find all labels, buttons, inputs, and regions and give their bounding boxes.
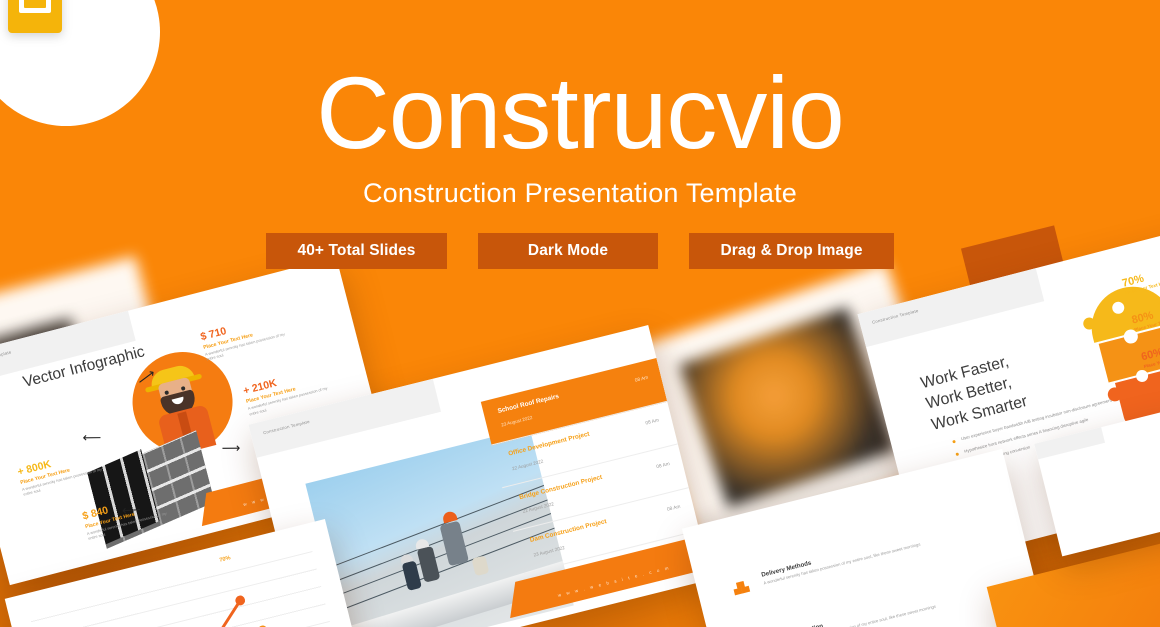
page-subtitle: Construction Presentation Template — [0, 178, 1160, 209]
list-item-description: A wonderful serenity has taken possessio… — [763, 528, 976, 587]
poster-canvas: Construction Template Vector Infographic… — [0, 0, 1160, 627]
schedule-row-date: 23 August 2022 — [533, 545, 565, 558]
arrow-left-icon: ⟵ — [83, 430, 102, 446]
schedule-row-time: 08 Am — [645, 419, 659, 427]
google-slides-icon — [8, 0, 62, 33]
schedule-row-date: 22 August 2022 — [522, 502, 554, 515]
schedule-row-date: 22 August 2022 — [511, 458, 543, 471]
feature-badge-list: 40+ Total Slides Dark Mode Drag & Drop I… — [0, 233, 1160, 269]
schedule-row-name: School Roof Repairs — [497, 393, 560, 415]
badge-drag-drop-image[interactable]: Drag & Drop Image — [689, 233, 894, 269]
truck-icon: ▟▙ — [733, 581, 751, 595]
list-item: ⌸ Preconstruction A wonderful serenity h… — [776, 582, 991, 627]
chart-data-label: 70% — [219, 555, 231, 564]
schedule-row-time: 08 Am — [667, 505, 681, 513]
page-title: Construcvio — [0, 62, 1160, 164]
badge-dark-mode[interactable]: Dark Mode — [478, 233, 658, 269]
schedule-row-date: 23 August 2022 — [501, 415, 533, 428]
arrow-right-icon: ⟶ — [221, 440, 240, 456]
badge-total-slides[interactable]: 40+ Total Slides — [266, 233, 447, 269]
stat-item: $ 710 Place Your Text Here A wonderful s… — [199, 308, 296, 363]
hero-section: Construcvio Construction Presentation Te… — [0, 62, 1160, 269]
schedule-row-time: 08 Am — [634, 376, 648, 384]
schedule-row-time: 08 Am — [656, 462, 670, 470]
list-item: ▟▙ Delivery Methods A wonderful serenity… — [761, 519, 976, 587]
list-item-title: Delivery Methods — [761, 519, 974, 578]
